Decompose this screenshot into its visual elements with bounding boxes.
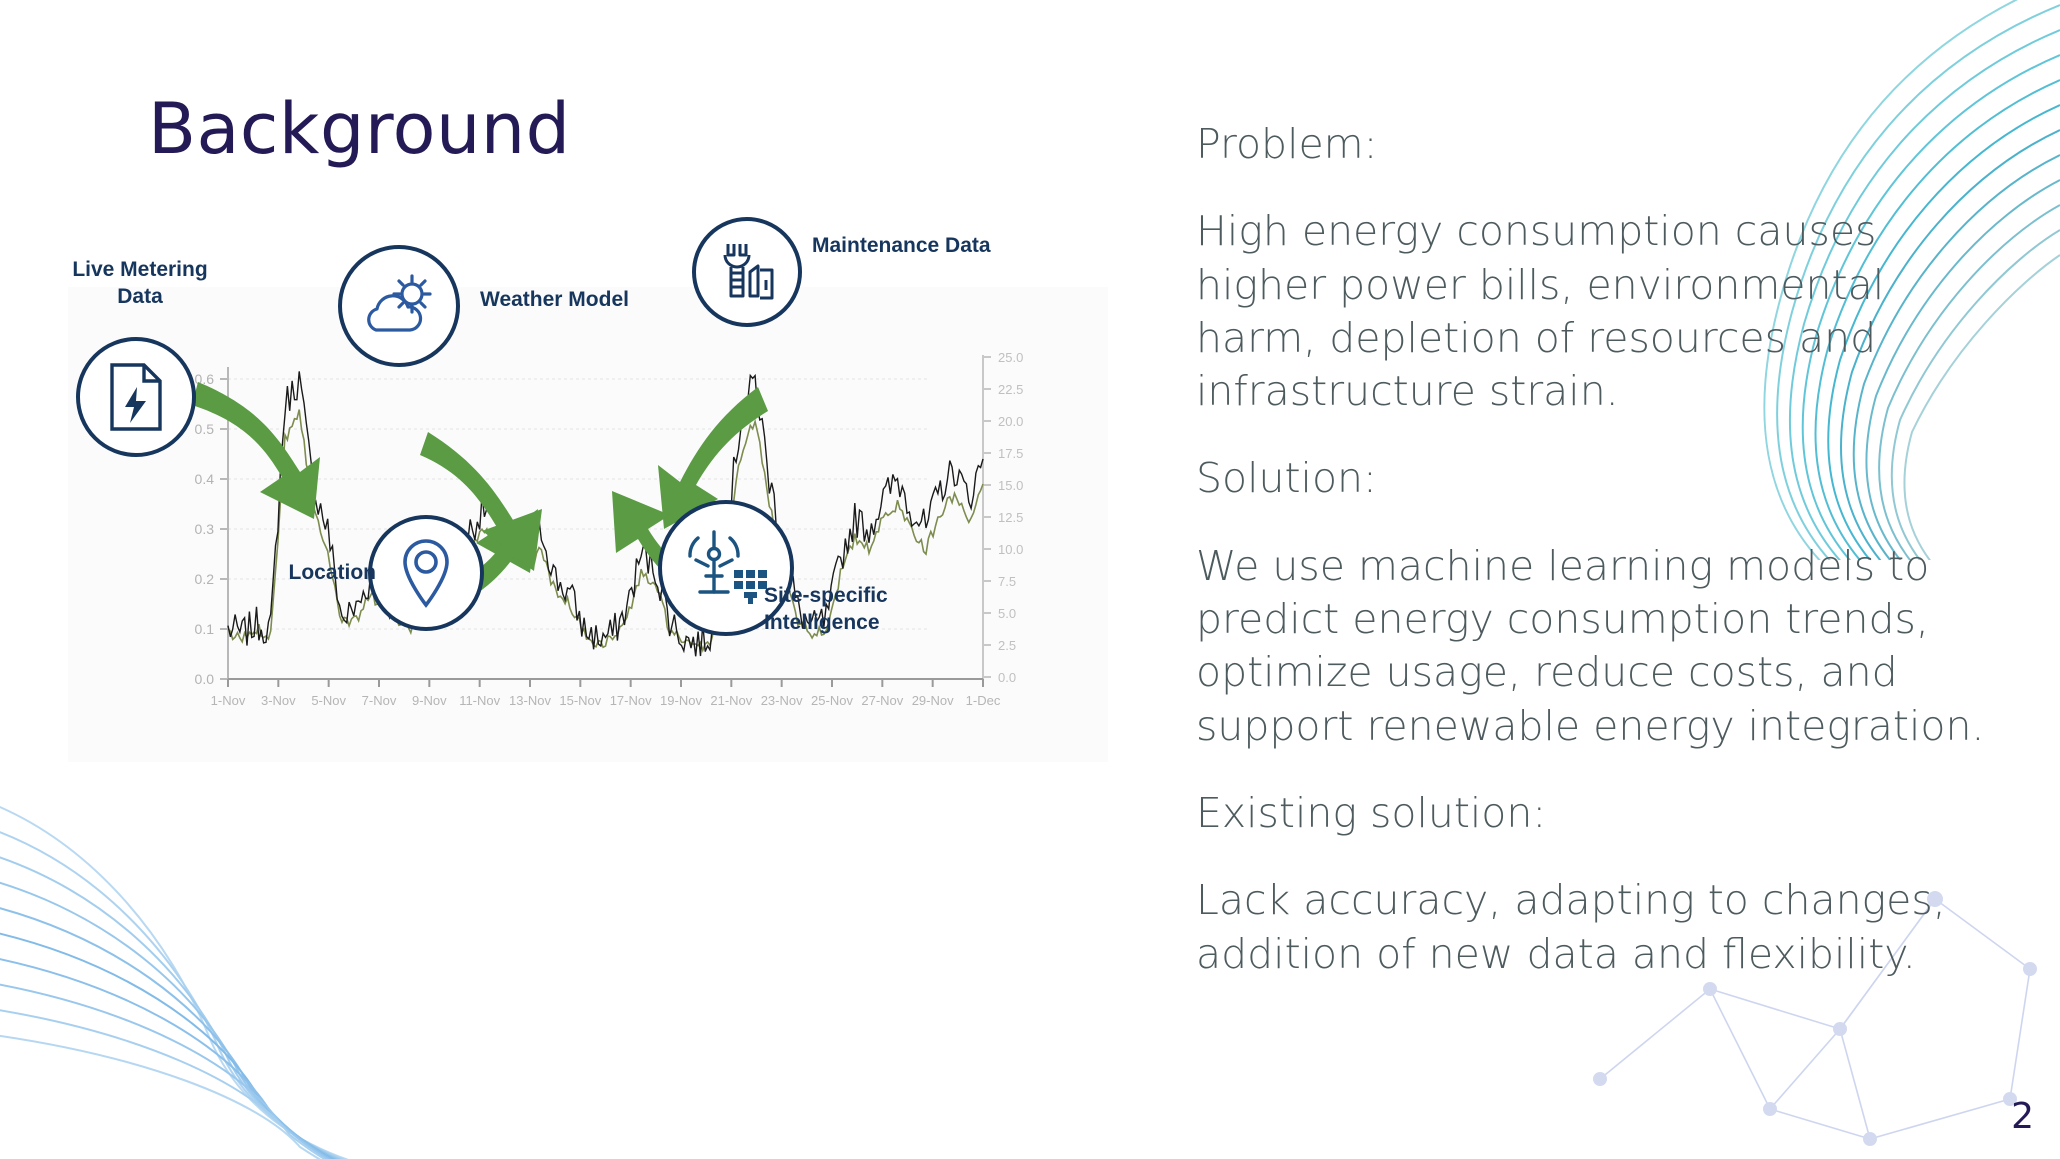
chart-xtick: 9-Nov [412, 693, 447, 708]
solution-body: We use machine learning models to predic… [1196, 540, 1996, 753]
content-column: Problem: High energy consumption causes … [1196, 118, 1996, 1015]
chart-xtick: 11-Nov [459, 693, 500, 708]
chart-xtick: 17-Nov [610, 693, 652, 708]
solution-heading: Solution: [1196, 452, 1996, 505]
problem-heading: Problem: [1196, 118, 1996, 171]
existing-body: Lack accuracy, adapting to changes, addi… [1196, 874, 1996, 981]
node-maintenance-data[interactable] [692, 217, 802, 327]
map-pin-icon [398, 537, 454, 609]
chart-ytick-left: 0.4 [195, 471, 215, 487]
chart-ytick-right: 12.5 [998, 510, 1023, 525]
chart-xtick: 13-Nov [509, 693, 551, 708]
node-weather-model[interactable] [338, 245, 460, 367]
node-label-site-specific-intelligence: Site-specific Intelligence [764, 583, 984, 637]
problem-body: High energy consumption causes higher po… [1196, 205, 1996, 418]
chart-ytick-left: 0.1 [195, 621, 215, 637]
chart-ytick-right: 5.0 [998, 606, 1016, 621]
chart-xtick: 21-Nov [710, 693, 752, 708]
chart-canvas: 0.6 0.5 0.4 0.3 0.2 0.1 0.0 [68, 287, 1108, 762]
document-lightning-icon [106, 361, 166, 433]
chart-xtick: 29-Nov [912, 693, 954, 708]
node-label-weather-model: Weather Model [480, 287, 680, 314]
chart-xtick: 25-Nov [811, 693, 853, 708]
wrench-screw-icon [716, 240, 778, 304]
chart-ytick-right: 7.5 [998, 574, 1016, 589]
chart-ytick-right: 25.0 [998, 350, 1023, 365]
chart-ytick-right: 22.5 [998, 382, 1023, 397]
chart-ytick-right: 2.5 [998, 638, 1016, 653]
node-location[interactable] [368, 515, 484, 631]
chart-ytick-left: 0.5 [195, 421, 215, 437]
chart-ytick-right: 17.5 [998, 446, 1023, 461]
chart-ytick-right: 15.0 [998, 478, 1023, 493]
node-label-location: Location [246, 560, 376, 587]
chart-xtick: 5-Nov [311, 693, 346, 708]
chart-ytick-left: 0.2 [195, 571, 215, 587]
cloud-sun-icon [362, 274, 436, 338]
page-number: 2 [2011, 1096, 2034, 1137]
chart-xtick: 1-Dec [966, 693, 1001, 708]
page-title: Background [148, 88, 571, 170]
node-label-maintenance-data: Maintenance Data [812, 233, 992, 260]
chart-ytick-left: 0.3 [195, 521, 215, 537]
chart-xtick: 7-Nov [362, 693, 397, 708]
chart-xtick: 3-Nov [261, 693, 296, 708]
wind-turbine-solar-icon [680, 526, 772, 610]
chart-xtick: 23-Nov [761, 693, 803, 708]
chart-ytick-right: 20.0 [998, 414, 1023, 429]
chart-ytick-right: 10.0 [998, 542, 1023, 557]
node-live-metering[interactable] [76, 337, 196, 457]
chart-xtick: 15-Nov [559, 693, 601, 708]
energy-timeseries-chart: 0.6 0.5 0.4 0.3 0.2 0.1 0.0 [68, 287, 1108, 762]
chart-ytick-right: 0.0 [998, 670, 1016, 685]
chart-xtick: 19-Nov [660, 693, 702, 708]
chart-ytick-left: 0.0 [195, 671, 215, 687]
node-label-live-metering: Live Metering Data [50, 257, 230, 311]
chart-xtick: 1-Nov [211, 693, 246, 708]
existing-heading: Existing solution: [1196, 787, 1996, 840]
background-diagram: 0.6 0.5 0.4 0.3 0.2 0.1 0.0 [40, 215, 1140, 835]
arrow-live-metering-icon [192, 382, 320, 519]
chart-xtick: 27-Nov [861, 693, 903, 708]
